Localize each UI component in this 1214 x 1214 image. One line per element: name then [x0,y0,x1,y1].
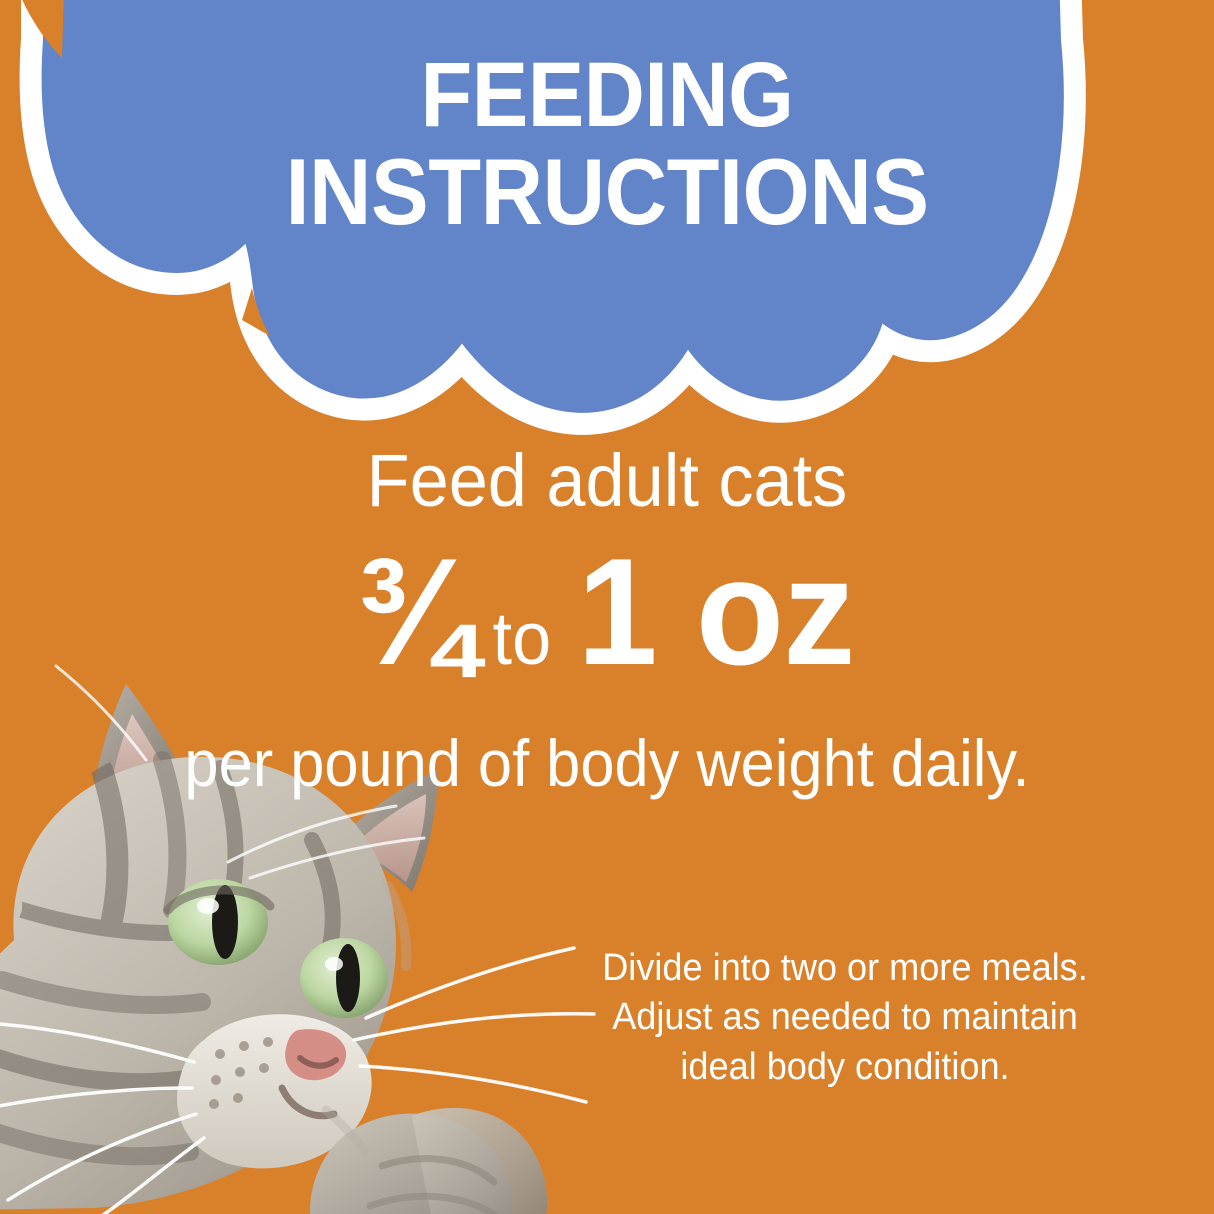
amount-minimum: ¾ [355,536,474,688]
feed-intro-line: Feed adult cats [30,444,1183,518]
amount-maximum: 1 oz [578,536,855,688]
fineprint-line-1: Divide into two or more meals. [555,944,1135,993]
fineprint-line-2: Adjust as needed to maintain [555,993,1135,1042]
fineprint-line-3: ideal body condition. [555,1043,1135,1092]
feeding-instructions-poster: FEEDING INSTRUCTIONS [0,0,1214,1214]
amount-line: ¾ to 1 oz [0,536,1214,688]
amount-connector: to [492,602,551,676]
feeding-basis-line: per pound of body weight daily. [42,730,1171,796]
fineprint-block: Divide into two or more meals. Adjust as… [540,944,1150,1092]
